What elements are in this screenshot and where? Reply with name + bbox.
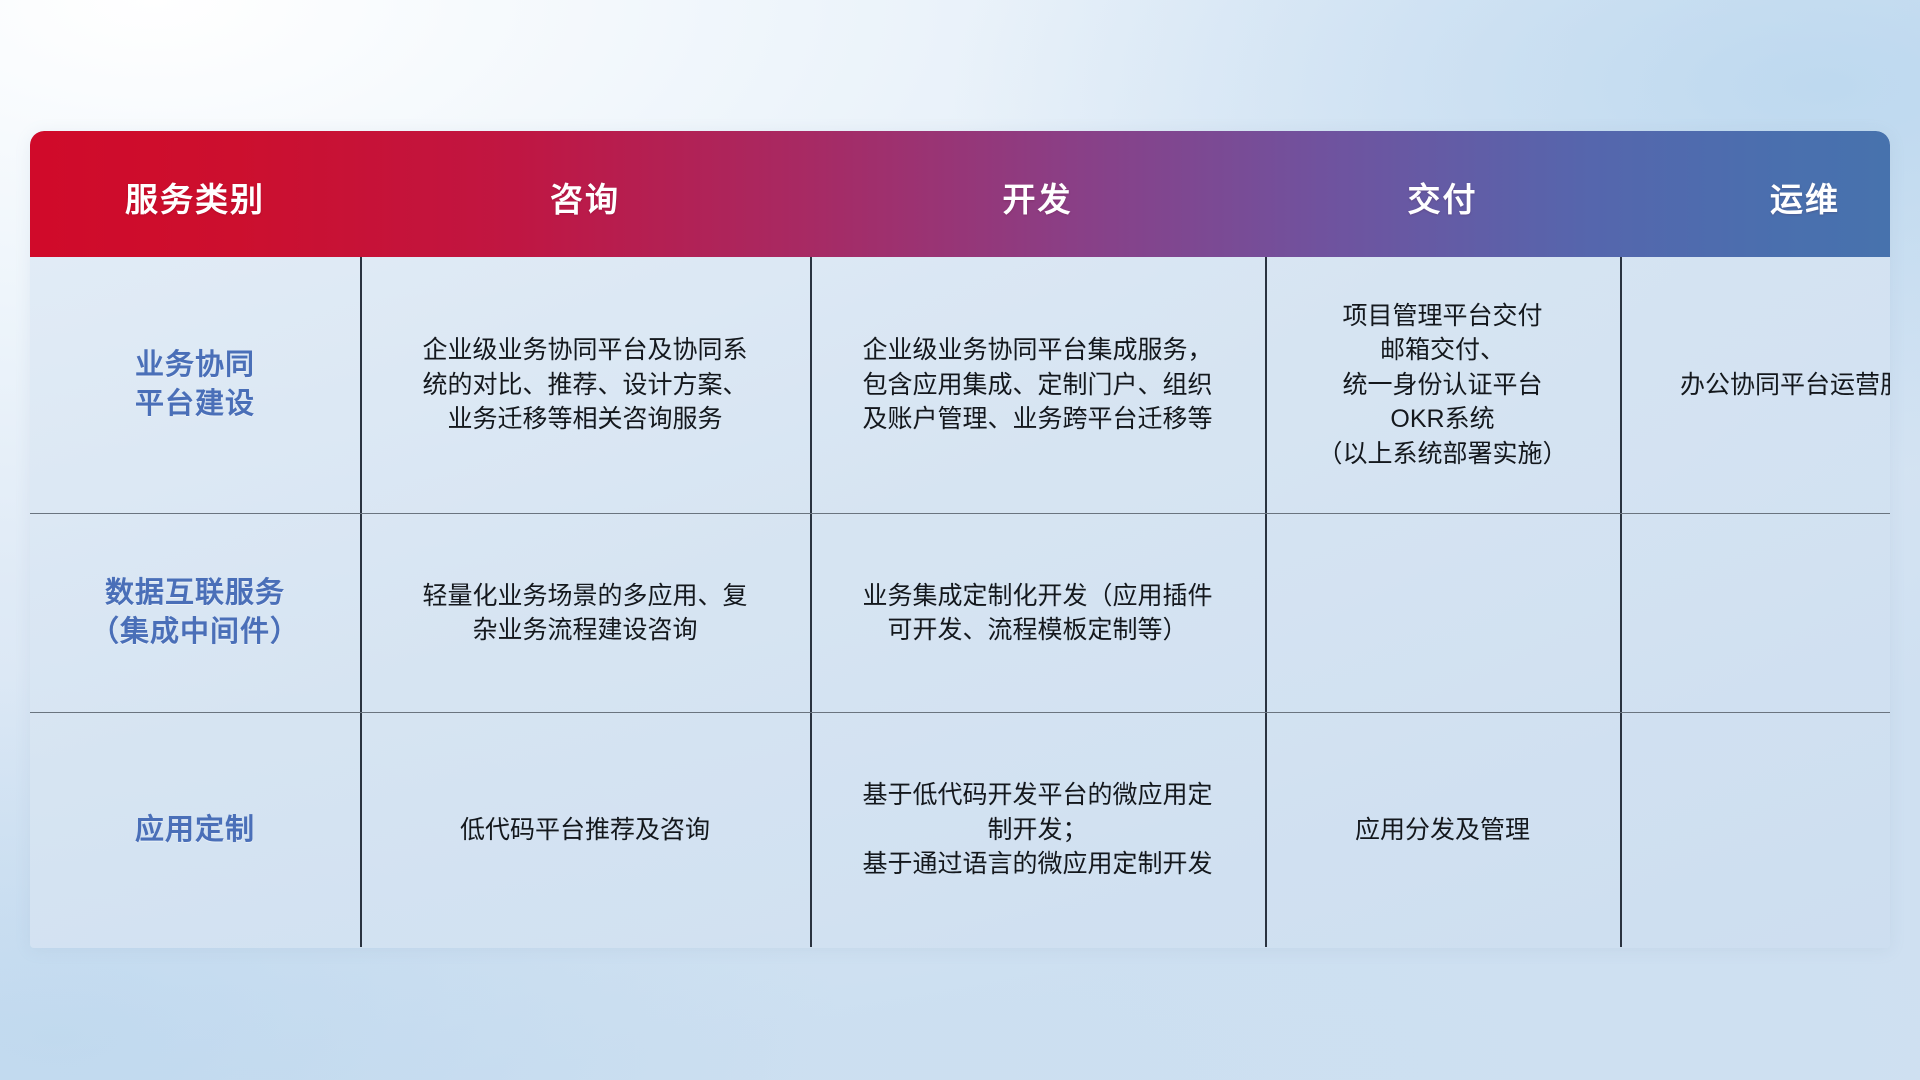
table-body: 业务协同 平台建设 企业级业务协同平台及协同系 统的对比、推荐、设计方案、 业务… (30, 257, 1890, 948)
row-label-text: 数据互联服务 （集成中间件） (90, 574, 300, 652)
row-label-cell: 应用定制 (30, 713, 360, 947)
table-header-row: 服务类别 咨询 开发 交付 运维 (30, 131, 1890, 257)
cell-delivery: 应用分发及管理 (1265, 713, 1620, 947)
cell-text: 轻量化业务场景的多应用、复 杂业务流程建设咨询 (422, 579, 747, 648)
column-header-development: 开发 (810, 131, 1265, 257)
cell-consulting: 低代码平台推荐及咨询 (360, 713, 810, 947)
cell-text: 企业级业务协同平台集成服务， 包含应用集成、定制门户、组织 及账户管理、业务跨平… (862, 333, 1212, 437)
row-label-cell: 数据互联服务 （集成中间件） (30, 514, 360, 712)
column-header-consulting: 咨询 (360, 131, 810, 257)
cell-text: 企业级业务协同平台及协同系 统的对比、推荐、设计方案、 业务迁移等相关咨询服务 (422, 333, 747, 437)
cell-operations (1620, 514, 1890, 712)
cell-consulting: 企业级业务协同平台及协同系 统的对比、推荐、设计方案、 业务迁移等相关咨询服务 (360, 257, 810, 513)
cell-development: 业务集成定制化开发（应用插件 可开发、流程模板定制等） (810, 514, 1265, 712)
table-row: 应用定制 低代码平台推荐及咨询 基于低代码开发平台的微应用定 制开发； 基于通过… (30, 712, 1890, 947)
cell-operations (1620, 713, 1890, 947)
page-root: 服务类别 咨询 开发 交付 运维 业务协同 平台建设 企业级业务协同平台及协同系… (0, 0, 1920, 1080)
row-label-cell: 业务协同 平台建设 (30, 257, 360, 513)
service-matrix-table: 服务类别 咨询 开发 交付 运维 业务协同 平台建设 企业级业务协同平台及协同系… (30, 131, 1890, 948)
column-header-operations: 运维 (1620, 131, 1890, 257)
cell-development: 企业级业务协同平台集成服务， 包含应用集成、定制门户、组织 及账户管理、业务跨平… (810, 257, 1265, 513)
cell-text: 办公协同平台运营服务 (1680, 368, 1890, 403)
table-row: 数据互联服务 （集成中间件） 轻量化业务场景的多应用、复 杂业务流程建设咨询 业… (30, 513, 1890, 712)
cell-delivery: 项目管理平台交付 邮箱交付、 统一身份认证平台 OKR系统 （以上系统部署实施） (1265, 257, 1620, 513)
cell-text: 业务集成定制化开发（应用插件 可开发、流程模板定制等） (862, 579, 1212, 648)
cell-text: 项目管理平台交付 邮箱交付、 统一身份认证平台 OKR系统 （以上系统部署实施） (1317, 299, 1567, 472)
cell-consulting: 轻量化业务场景的多应用、复 杂业务流程建设咨询 (360, 514, 810, 712)
row-label-text: 业务协同 平台建设 (135, 346, 255, 424)
cell-delivery (1265, 514, 1620, 712)
column-header-category: 服务类别 (30, 131, 360, 257)
row-label-text: 应用定制 (135, 811, 255, 850)
cell-text: 应用分发及管理 (1355, 813, 1530, 848)
cell-text: 基于低代码开发平台的微应用定 制开发； 基于通过语言的微应用定制开发 (862, 778, 1212, 882)
cell-operations: 办公协同平台运营服务 (1620, 257, 1890, 513)
cell-text: 低代码平台推荐及咨询 (460, 813, 710, 848)
table-row: 业务协同 平台建设 企业级业务协同平台及协同系 统的对比、推荐、设计方案、 业务… (30, 257, 1890, 513)
column-header-delivery: 交付 (1265, 131, 1620, 257)
cell-development: 基于低代码开发平台的微应用定 制开发； 基于通过语言的微应用定制开发 (810, 713, 1265, 947)
